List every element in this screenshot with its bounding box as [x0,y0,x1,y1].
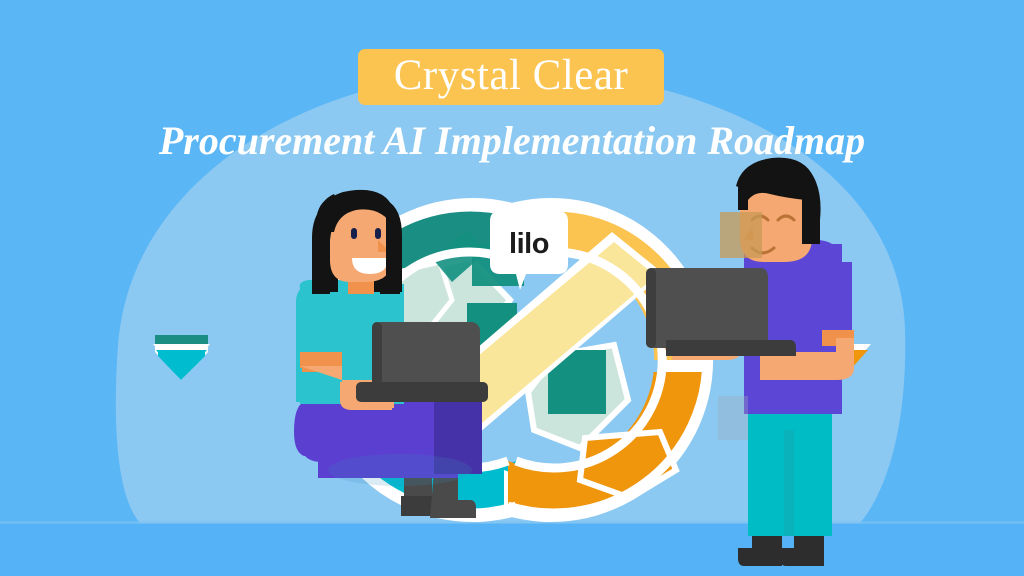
title-badge: Crystal Clear [358,49,664,105]
title-text: Crystal Clear [394,54,629,101]
man-box-shadow [718,396,748,440]
slide-canvas: lilo Crystal Clear Procurement AI Implem… [0,0,1024,576]
man-pants [748,404,832,536]
ground-edge-line [0,521,1024,524]
ground-band [0,523,1024,576]
man-shoulder-shadow [720,212,762,258]
man-sleeve-right [822,262,852,336]
lilo-logo-text: lilo [509,228,549,260]
subtitle-text: Procurement AI Implementation Roadmap [0,118,1024,164]
woman-eye-right [375,228,381,239]
woman-laptop [356,322,488,402]
woman-eye-left [351,228,357,239]
